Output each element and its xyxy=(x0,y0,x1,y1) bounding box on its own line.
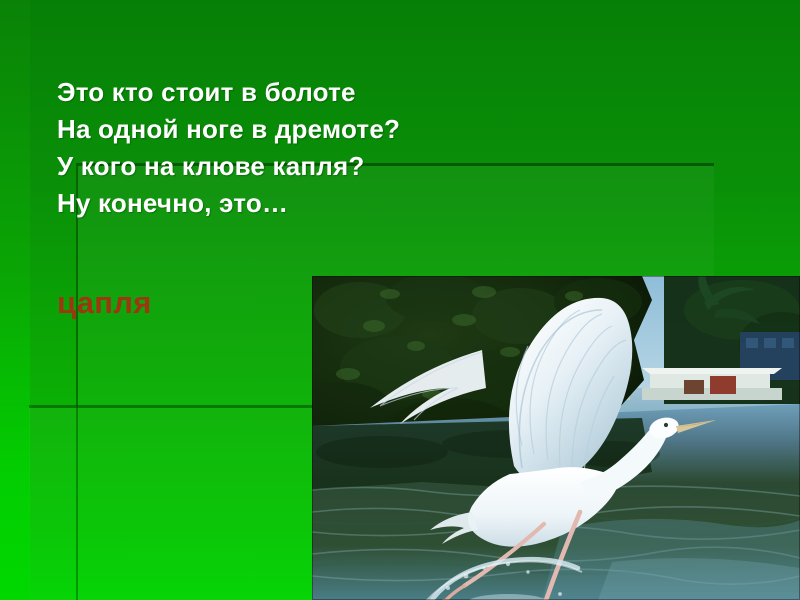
heron-photo xyxy=(312,276,800,600)
riddle-line-1: Это кто стоит в болоте xyxy=(57,74,757,111)
riddle-line-4: Ну конечно, это… xyxy=(57,185,757,222)
riddle-text-block: Это кто стоит в болоте На одной ноге в д… xyxy=(57,74,757,222)
riddle-answer: цапля xyxy=(57,283,152,323)
riddle-line-3: У кого на клюве капля? xyxy=(57,148,757,185)
background-lower-panel-edge xyxy=(76,405,78,600)
riddle-line-2: На одной ноге в дремоте? xyxy=(57,111,757,148)
heron-photo-illustration xyxy=(312,276,800,600)
background-left-gradient-column xyxy=(0,0,30,600)
slide-canvas: Это кто стоит в болоте На одной ноге в д… xyxy=(0,0,800,600)
